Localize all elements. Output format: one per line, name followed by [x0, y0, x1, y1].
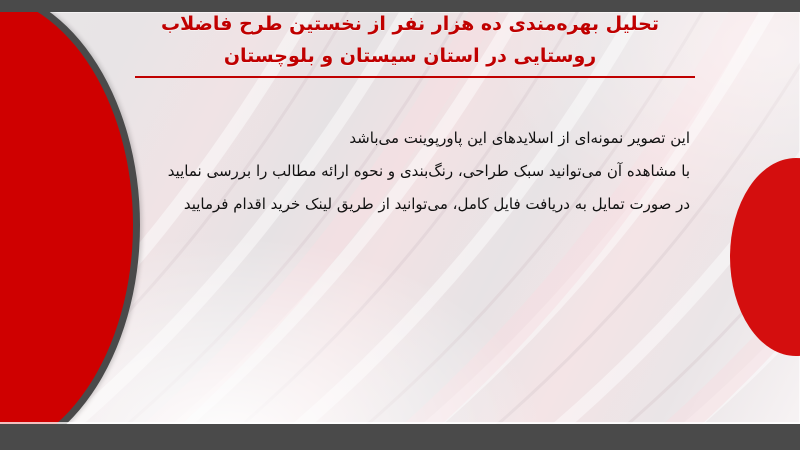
body-line-3: در صورت تمایل به دریافت فایل کامل، می‌تو…	[90, 188, 690, 221]
slide-body-text: این تصویر نمونه‌ای از اسلایدهای این پاور…	[90, 122, 690, 221]
body-line-1: این تصویر نمونه‌ای از اسلایدهای این پاور…	[90, 122, 690, 155]
bottom-border-bar	[0, 424, 800, 450]
title-underline-rule	[135, 76, 695, 78]
slide-title-line-2: روستایی در استان سیستان و بلوچستان	[120, 40, 700, 72]
decorative-red-ellipse-right	[730, 158, 800, 356]
slide-title: تحلیل بهره‌مندی ده هزار نفر از نخستین طر…	[120, 8, 700, 72]
body-line-2: با مشاهده آن می‌توانید سبک طراحی، رنگ‌بن…	[90, 155, 690, 188]
presentation-slide: تحلیل بهره‌مندی ده هزار نفر از نخستین طر…	[0, 0, 800, 450]
slide-title-line-1: تحلیل بهره‌مندی ده هزار نفر از نخستین طر…	[120, 8, 700, 40]
